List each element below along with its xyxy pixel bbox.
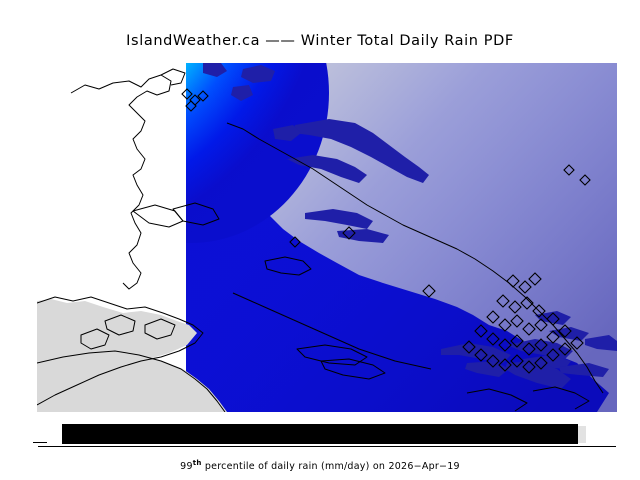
caption-ordinal-suffix: th [193,459,202,467]
caption-percentile-number: 99 [180,461,193,472]
map-canvas[interactable] [37,63,617,412]
colorbar-gradient[interactable] [62,424,578,444]
colorbar-axis-rule [38,446,616,447]
figure-root: IslandWeather.ca —— Winter Total Daily R… [0,0,640,480]
colorbar-caption: 99th percentile of daily rain (mm/day) o… [0,459,640,472]
caption-text: percentile of daily rain (mm/day) on 202… [202,461,460,472]
map-panel[interactable] [37,63,617,412]
colorbar[interactable] [0,424,640,450]
page-title: IslandWeather.ca —— Winter Total Daily R… [0,33,640,49]
colorbar-left-tick [33,442,47,443]
colorbar-overflow-swatch [578,426,586,443]
